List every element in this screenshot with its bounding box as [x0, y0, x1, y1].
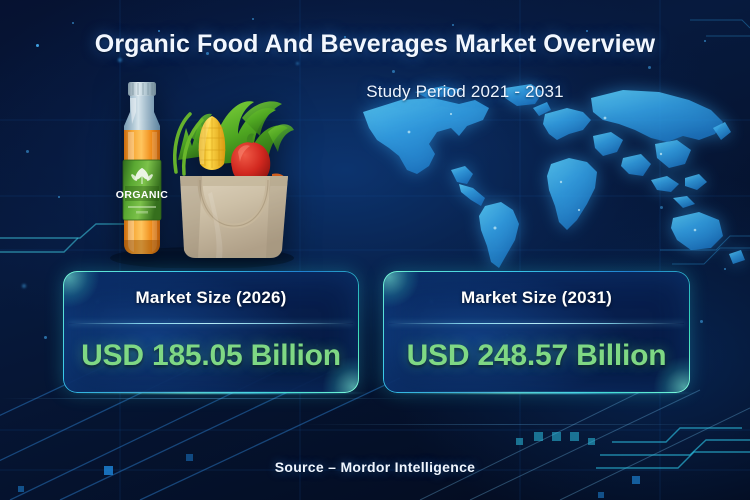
- card-divider: [69, 323, 353, 324]
- card-divider: [389, 323, 684, 324]
- card-value: USD 185.05 Billion: [63, 339, 359, 373]
- card-underglow-right: [388, 392, 698, 394]
- card-label: Market Size (2031): [383, 288, 690, 308]
- world-map-graphic: [355, 78, 750, 278]
- card-value: USD 248.57 Billion: [383, 339, 690, 373]
- page-title: Organic Food And Beverages Market Overvi…: [0, 30, 750, 59]
- market-size-card-2031: Market Size (2031) USD 248.57 Billion: [383, 271, 690, 393]
- market-size-card-2026: Market Size (2026) USD 185.05 Billion: [63, 271, 359, 393]
- infographic-canvas: Organic Food And Beverages Market Overvi…: [0, 0, 750, 500]
- source-attribution: Source – Mordor Intelligence: [0, 459, 750, 475]
- organic-product-image: ORGANIC: [92, 68, 307, 268]
- card-underglow-left: [70, 392, 370, 394]
- bottle-label-text: ORGANIC: [116, 189, 168, 201]
- card-label: Market Size (2026): [63, 288, 359, 308]
